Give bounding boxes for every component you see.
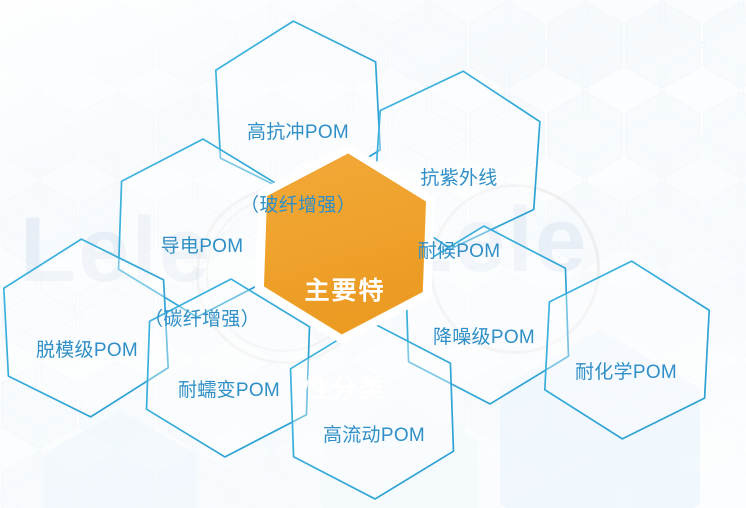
diagram-canvas: Lele Lele	[0, 0, 746, 508]
label-uv-resistant-pom-line1: 抗紫外线	[359, 167, 559, 191]
label-chemical-resistant-pom-line1: 耐化学POM	[526, 361, 726, 385]
label-center-line1: 主要特	[265, 275, 425, 308]
label-chemical-resistant-pom: 耐化学POM	[526, 312, 726, 434]
label-center-main-category: 主要特 性分类	[265, 210, 425, 470]
label-center-line2: 性分类	[265, 373, 425, 406]
